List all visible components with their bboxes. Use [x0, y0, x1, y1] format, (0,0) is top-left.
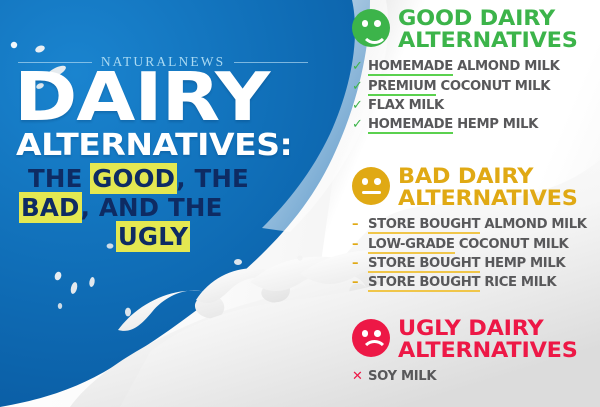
dash-icon: –	[352, 215, 363, 234]
page-subtitle: ALTERNATIVES:	[16, 131, 292, 161]
mouth-flat	[362, 191, 381, 194]
tagline-text-and-the: , AND THE	[81, 193, 223, 222]
list-item-emphasis: SOY MILK	[368, 369, 436, 384]
list-item: ✕ SOY MILK	[352, 367, 600, 386]
list-item: – STORE BOUGHT ALMOND MILK	[352, 215, 600, 234]
tagline-line-2: BAD, AND THE	[16, 194, 336, 223]
smiley-happy-icon	[352, 9, 390, 47]
list-item-text: ALMOND MILK	[457, 59, 559, 74]
smiley-sad-icon	[352, 319, 390, 357]
eye-left	[362, 178, 369, 185]
sections-panel: GOOD DAIRY ALTERNATIVES ✓ HOMEMADE ALMON…	[352, 0, 600, 407]
section-good-title-line2: ALTERNATIVES	[398, 30, 578, 52]
tagline-text-the: THE	[28, 164, 91, 193]
check-icon: ✓	[352, 57, 363, 76]
check-icon: ✓	[352, 77, 363, 96]
list-item-emphasis: HOMEMADE	[368, 117, 453, 134]
list-item-emphasis: STORE BOUGHT	[368, 217, 480, 234]
section-bad-title-line2: ALTERNATIVES	[398, 188, 578, 210]
dash-icon: –	[352, 273, 363, 292]
list-item-emphasis: HOMEMADE	[368, 59, 453, 76]
section-bad: BAD DAIRY ALTERNATIVES – STORE BOUGHT AL…	[352, 166, 600, 292]
list-item: – LOW-GRADE COCONUT MILK	[352, 235, 600, 254]
list-item: – STORE BOUGHT HEMP MILK	[352, 254, 600, 273]
section-bad-title: BAD DAIRY ALTERNATIVES	[398, 166, 578, 210]
list-item: – STORE BOUGHT RICE MILK	[352, 273, 600, 292]
list-item: ✓ HOMEMADE ALMOND MILK	[352, 57, 600, 76]
eye-left	[362, 330, 369, 337]
list-item-emphasis: LOW-GRADE	[368, 237, 455, 254]
check-icon: ✓	[352, 115, 363, 134]
tagline: THE GOOD, THE BAD, AND THE UGLY	[16, 165, 336, 252]
section-ugly-header: UGLY DAIRY ALTERNATIVES	[352, 318, 600, 362]
tagline-line-1: THE GOOD, THE	[16, 165, 336, 194]
list-item-emphasis: STORE BOUGHT	[368, 275, 480, 292]
tagline-highlight-good: GOOD	[91, 164, 176, 193]
infographic-poster: NATURALNEWS DAIRY ALTERNATIVES: THE GOOD…	[0, 0, 600, 407]
list-item-emphasis: PREMIUM	[368, 79, 436, 96]
list-item-emphasis: FLAX MILK	[368, 98, 444, 113]
list-item-text: HEMP MILK	[484, 256, 565, 271]
check-icon: ✓	[352, 96, 363, 115]
eye-left	[362, 20, 369, 27]
tagline-highlight-bad: BAD	[20, 193, 81, 222]
section-ugly-title-line2: ALTERNATIVES	[398, 340, 578, 362]
mouth-frown	[361, 340, 388, 357]
section-good: GOOD DAIRY ALTERNATIVES ✓ HOMEMADE ALMON…	[352, 8, 600, 134]
eye-right	[374, 178, 381, 185]
eye-right	[374, 330, 381, 337]
eye-right	[374, 20, 381, 27]
smiley-neutral-icon	[352, 167, 390, 205]
list-item-text: COCONUT MILK	[459, 237, 569, 252]
tagline-text-the2: , THE	[176, 164, 249, 193]
section-good-list: ✓ HOMEMADE ALMOND MILK ✓ PREMIUM COCONUT…	[352, 57, 600, 134]
list-item: ✓ PREMIUM COCONUT MILK	[352, 77, 600, 96]
tagline-highlight-ugly: UGLY	[117, 222, 189, 251]
section-ugly: UGLY DAIRY ALTERNATIVES ✕ SOY MILK	[352, 318, 600, 387]
list-item-text: ALMOND MILK	[484, 217, 586, 232]
section-good-header: GOOD DAIRY ALTERNATIVES	[352, 8, 600, 52]
section-ugly-list: ✕ SOY MILK	[352, 367, 600, 386]
dash-icon: –	[352, 254, 363, 273]
title-panel: NATURALNEWS DAIRY ALTERNATIVES: THE GOOD…	[0, 0, 350, 407]
list-item-text: HEMP MILK	[457, 117, 538, 132]
list-item-text: RICE MILK	[484, 275, 556, 290]
section-good-title: GOOD DAIRY ALTERNATIVES	[398, 8, 578, 52]
section-bad-list: – STORE BOUGHT ALMOND MILK – LOW-GRADE C…	[352, 215, 600, 292]
list-item: ✓ HOMEMADE HEMP MILK	[352, 115, 600, 134]
list-item-text: COCONUT MILK	[441, 79, 551, 94]
page-title: DAIRY	[14, 68, 269, 127]
cross-icon: ✕	[352, 367, 363, 386]
section-ugly-title: UGLY DAIRY ALTERNATIVES	[398, 318, 578, 362]
list-item-emphasis: STORE BOUGHT	[368, 256, 480, 273]
mouth-smile	[361, 27, 388, 44]
section-bad-header: BAD DAIRY ALTERNATIVES	[352, 166, 600, 210]
tagline-line-3: UGLY	[16, 223, 336, 252]
list-item: ✓ FLAX MILK	[352, 96, 600, 115]
dash-icon: –	[352, 235, 363, 254]
